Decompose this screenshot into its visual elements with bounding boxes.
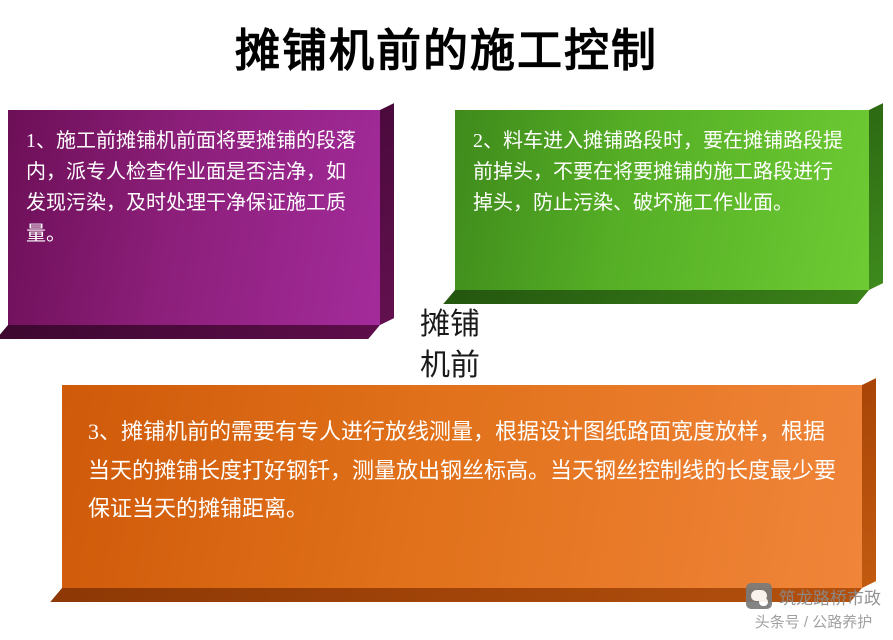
box-2-side-shadow xyxy=(869,103,883,290)
box-1-bottom-shadow xyxy=(0,325,380,339)
watermark: 筑龙路桥市政 头条号 / 公路养护 xyxy=(746,583,881,632)
box-3-text: 3、摊铺机前的需要有专人进行放线测量，根据设计图纸路面宽度放样，根据当天的摊铺长… xyxy=(62,385,862,588)
box-1-text: 1、施工前摊铺机前面将要摊铺的段落内，派专人检查作业面是否洁净，如发现污染，及时… xyxy=(8,110,380,325)
page-title: 摊铺机前的施工控制 xyxy=(0,14,893,79)
center-label: 摊铺 机前 xyxy=(380,305,520,386)
slide-canvas: 摊铺机前的施工控制 1、施工前摊铺机前面将要摊铺的段落内，派专人检查作业面是否洁… xyxy=(0,0,893,640)
wechat-logo-icon xyxy=(746,583,772,609)
box-2-bottom-shadow xyxy=(443,290,869,304)
watermark-row: 筑龙路桥市政 xyxy=(746,583,881,609)
content-box-3: 3、摊铺机前的需要有专人进行放线测量，根据设计图纸路面宽度放样，根据当天的摊铺长… xyxy=(62,385,862,588)
content-box-1: 1、施工前摊铺机前面将要摊铺的段落内，派专人检查作业面是否洁净，如发现污染，及时… xyxy=(8,110,380,325)
box-3-bottom-shadow xyxy=(50,588,862,602)
box-1-side-shadow xyxy=(380,103,394,325)
watermark-platform-line: 头条号 / 公路养护 xyxy=(755,611,873,632)
watermark-account-name: 筑龙路桥市政 xyxy=(779,584,881,609)
center-label-line-2: 机前 xyxy=(380,346,520,387)
box-3-side-shadow xyxy=(862,378,876,588)
content-box-2: 2、料车进入摊铺路段时，要在摊铺路段提前掉头，不要在将要摊铺的施工路段进行掉头，… xyxy=(455,110,869,290)
box-2-text: 2、料车进入摊铺路段时，要在摊铺路段提前掉头，不要在将要摊铺的施工路段进行掉头，… xyxy=(455,110,869,290)
center-label-line-1: 摊铺 xyxy=(380,305,520,346)
